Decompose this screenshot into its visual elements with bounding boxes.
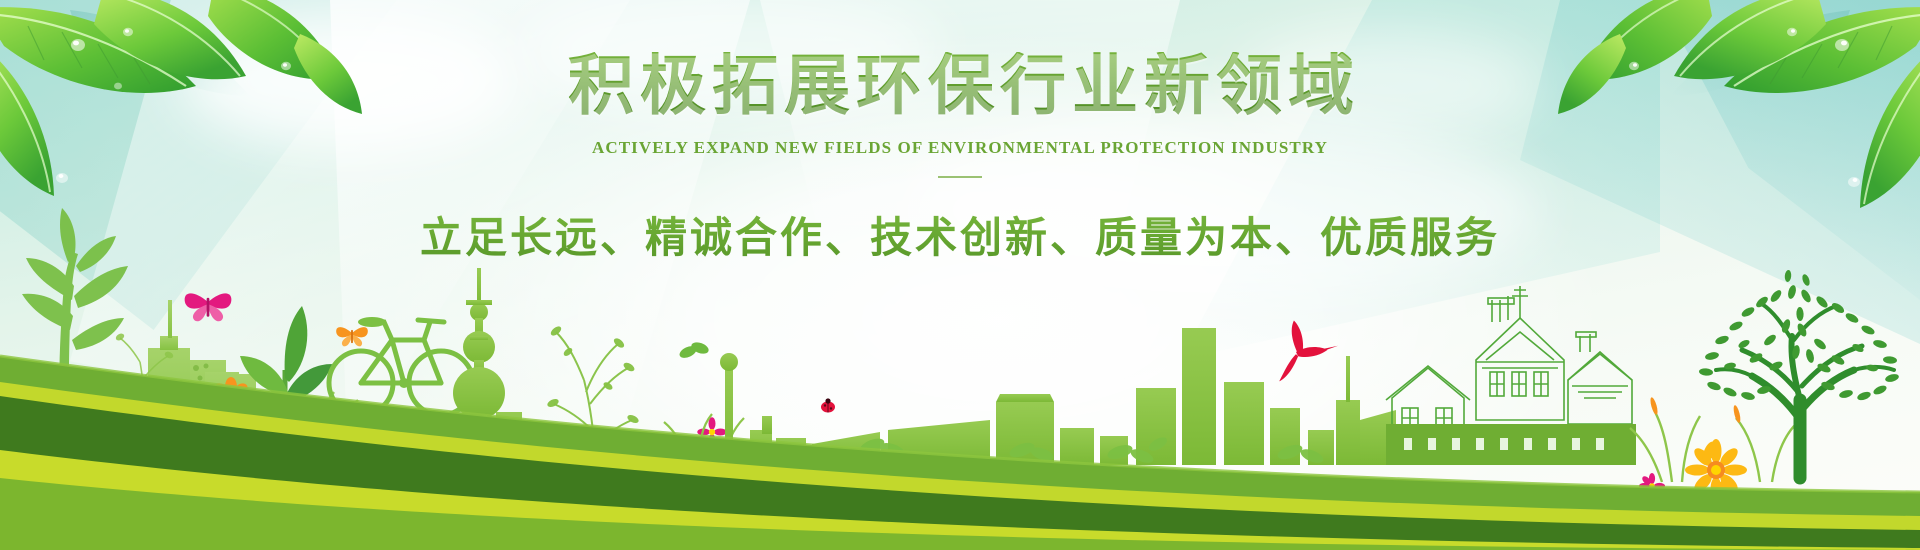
leaf-cluster-icon [1500,0,1920,210]
leaf-cluster-icon [0,0,420,200]
tagline: 立足长远、精诚合作、技术创新、质量为本、优质服务 [0,204,1920,265]
environmental-banner: 积极拓展环保行业新领域 ACTIVELY EXPAND NEW FIELDS O… [0,0,1920,550]
grass-hill-waves [0,320,1920,550]
divider [938,176,982,178]
